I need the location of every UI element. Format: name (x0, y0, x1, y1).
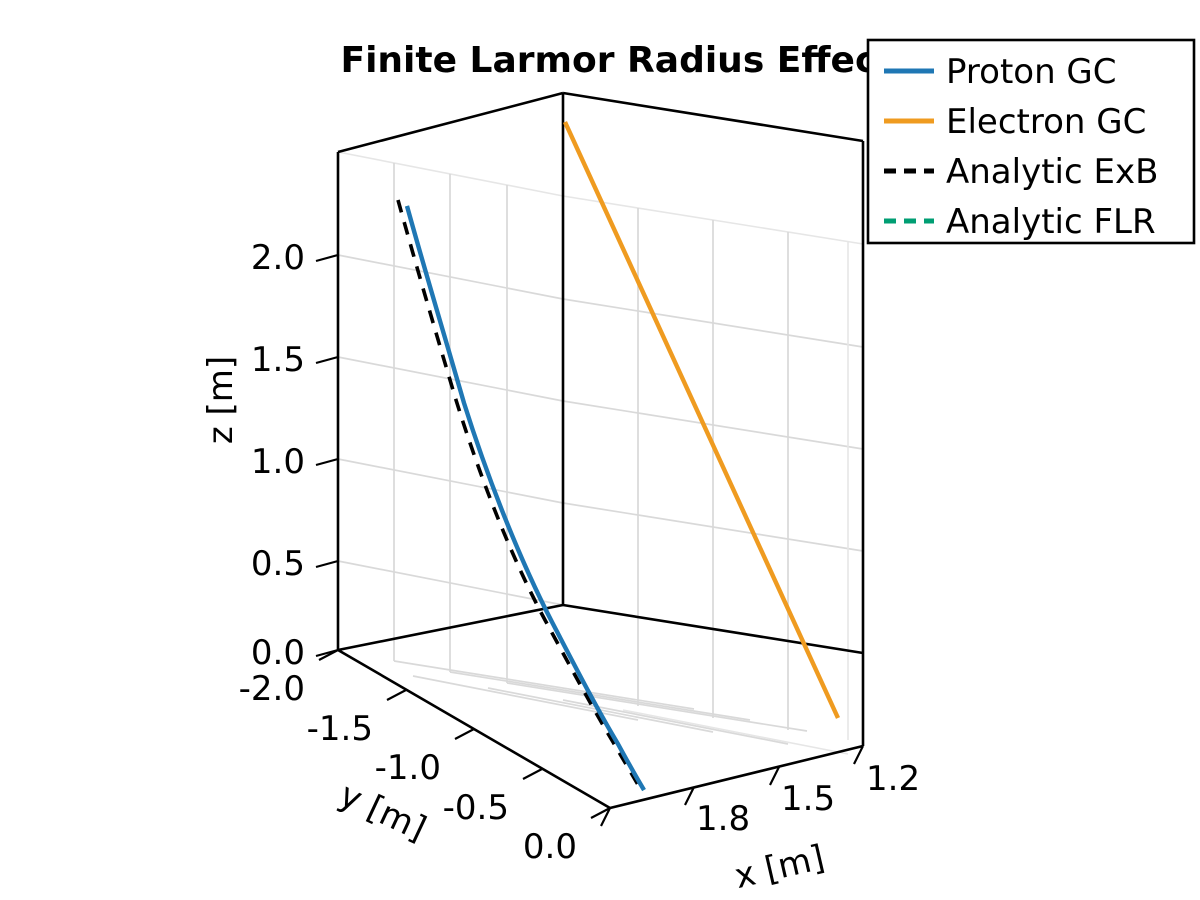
grid-floor-x1.22 (623, 710, 848, 754)
legend-label-0: Proton GC (946, 52, 1117, 92)
x-tick-labels: 1.8 1.5 1.2 (696, 759, 920, 839)
edge-right-top (563, 93, 863, 141)
z-tick-1.5 (316, 357, 338, 363)
legend[interactable]: Proton GC Electron GC Analytic ExB Analy… (868, 40, 1194, 243)
plot-3d-svg: 0.0 0.5 1.0 1.5 2.0 -2.0 -1.5 -1.0 -0.5 … (0, 0, 1200, 900)
y-ticklabel-3: -0.5 (443, 788, 509, 828)
z-ticklabel-4: 2.0 (251, 238, 305, 278)
x-ticklabel-0: 1.8 (696, 799, 750, 839)
x-axis-label: x [m] (731, 838, 828, 897)
page-title: Finite Larmor Radius Effect (340, 40, 893, 81)
y-ticklabel-2: -1.0 (375, 748, 441, 788)
z-axis-label: z [m] (201, 356, 241, 444)
grid-floor-y-0.5 (507, 683, 807, 731)
z-ticklabel-3: 1.5 (251, 340, 305, 380)
legend-label-3: Analytic FLR (946, 202, 1156, 242)
z-tick-2.0 (316, 255, 338, 261)
z-ticklabel-0: 0.0 (251, 633, 305, 673)
y-ticklabel-0: -2.0 (239, 669, 305, 709)
y-tick--0.5 (523, 769, 542, 779)
edge-left-top (338, 93, 563, 152)
y-ticklabel-1: -1.5 (307, 709, 373, 749)
legend-label-2: Analytic ExB (946, 152, 1158, 192)
z-ticklabel-2: 1.0 (251, 442, 305, 482)
series-electron-gc (565, 122, 838, 718)
z-ticklabel-1: 0.5 (251, 544, 305, 584)
z-tick-0.5 (316, 561, 338, 567)
legend-label-1: Electron GC (946, 102, 1146, 142)
series-proton-gc (407, 206, 644, 790)
figure-canvas: 0.0 0.5 1.0 1.5 2.0 -2.0 -1.5 -1.0 -0.5 … (0, 0, 1200, 900)
y-ticklabel-4: 0.0 (523, 827, 577, 867)
series-analytic-flr (407, 206, 644, 790)
x-ticklabel-1: 1.5 (781, 779, 835, 819)
data-series-group (398, 122, 838, 790)
z-tick-1.0 (316, 459, 338, 465)
z-tick-labels: 0.0 0.5 1.0 1.5 2.0 (251, 238, 305, 673)
y-tick--1.0 (455, 729, 474, 739)
x-ticklabel-2: 1.2 (866, 759, 920, 799)
y-tick--1.5 (387, 690, 406, 700)
